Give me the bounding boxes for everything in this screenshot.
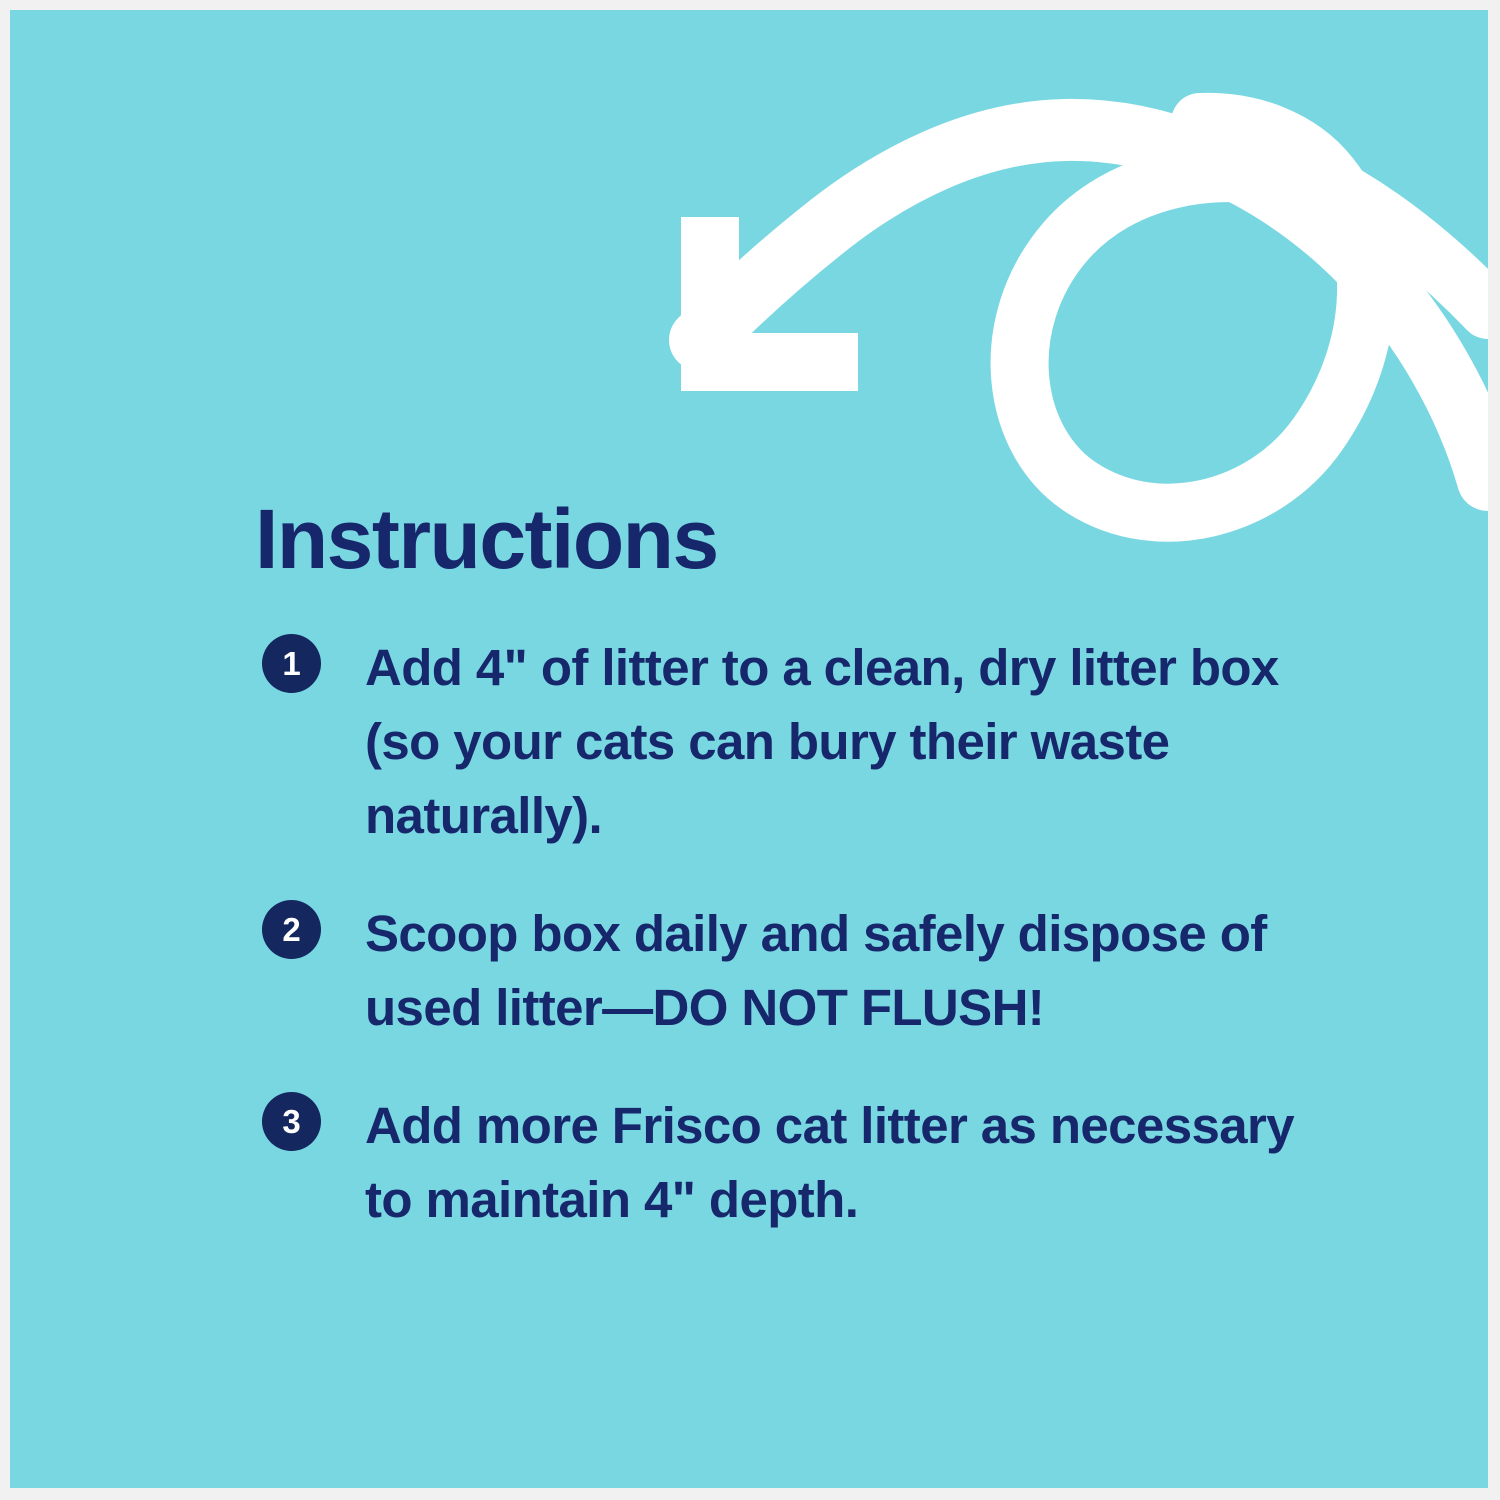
curved-loop-arrow-icon — [10, 10, 1488, 570]
step-text: Add 4" of litter to a clean, dry litter … — [365, 631, 1305, 853]
list-item: 1 Add 4" of litter to a clean, dry litte… — [255, 631, 1305, 853]
instructions-canvas: Instructions 1 Add 4" of litter to a cle… — [10, 10, 1488, 1488]
step-text: Scoop box daily and safely dispose of us… — [365, 897, 1305, 1045]
list-item: 2 Scoop box daily and safely dispose of … — [255, 897, 1305, 1045]
step-text-emphasis: DO NOT FLUSH! — [653, 979, 1045, 1036]
list-item: 3 Add more Frisco cat litter as necessar… — [255, 1089, 1305, 1237]
steps-list: 1 Add 4" of litter to a clean, dry litte… — [255, 631, 1305, 1237]
step-text-body: Add 4" of litter to a clean, dry litter … — [365, 639, 1279, 844]
page-title: Instructions — [255, 497, 1305, 581]
instructions-content: Instructions 1 Add 4" of litter to a cle… — [255, 497, 1305, 1237]
step-text-body: Add more Frisco cat litter as necessary … — [365, 1097, 1294, 1228]
step-text: Add more Frisco cat litter as necessary … — [365, 1089, 1305, 1237]
step-number-badge: 2 — [262, 900, 321, 959]
step-number-badge: 3 — [262, 1092, 321, 1151]
step-number-badge: 1 — [262, 634, 321, 693]
instructions-panel: Instructions 1 Add 4" of litter to a cle… — [0, 0, 1500, 1500]
